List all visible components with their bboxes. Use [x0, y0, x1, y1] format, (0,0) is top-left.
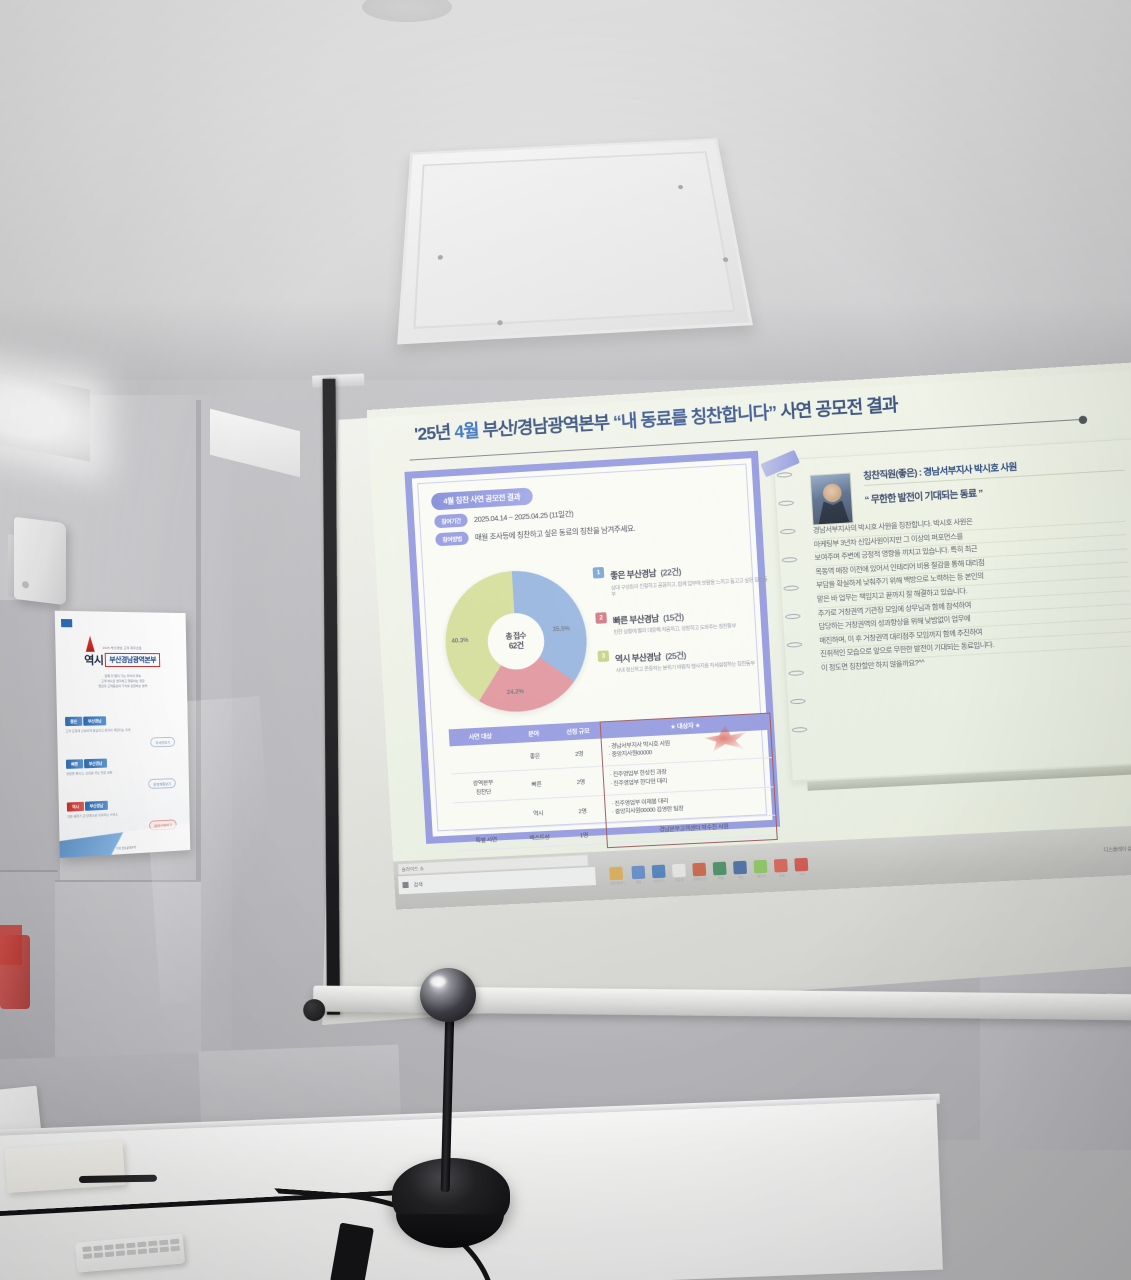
legend-count: (15건)	[663, 612, 684, 623]
taskbar-app[interactable]: PDF	[795, 858, 809, 877]
legend-index: 1	[593, 567, 605, 579]
powerpoint-icon[interactable]	[692, 863, 706, 877]
legend-item: 2 빠른 부산경남 (15건) 빈한 상황에 빨리 대응해 처음하고, 성장하고…	[595, 602, 771, 638]
donut-legend: 1 좋은 부산경남 (22건) 상대 구성원의 친절하고 꼼꼼하고, 함께 업무…	[592, 557, 774, 688]
screen-mount-cap	[312, 373, 364, 387]
taskbar-app[interactable]: 한글	[774, 859, 788, 878]
meeting-room-photo: 2025 부산경남 고객 최우선점 역시 부산경남광역본부 함께 더 멀리 가는…	[0, 0, 1131, 1280]
poster-title-box: 부산경남광역본부	[105, 653, 160, 667]
note-spiral-binding	[776, 468, 810, 772]
legend-index: 2	[595, 612, 607, 624]
legend-index: 3	[597, 650, 609, 662]
projection-screen: '25년 4월 부산/경남광역본부 “내 동료를 칭찬합니다” 사연 공모전 결…	[294, 371, 1131, 1045]
app-label: 파워포인트	[693, 877, 707, 882]
poster-section-desc: 불편을 줄이고, 신뢰를 쌓는 현장 실천	[66, 768, 181, 777]
td-size: 2명	[558, 766, 604, 797]
search-placeholder: 검색	[413, 881, 423, 888]
screen-roller-knob	[303, 999, 325, 1021]
legend-desc: 빈한 상황에 빨리 대응해 처음하고, 성장하고 도와주는 칭찬동부	[613, 623, 736, 636]
td-field: 베스트상	[517, 825, 562, 847]
hatch-inner-panel	[413, 151, 735, 329]
note-icon[interactable]	[672, 864, 686, 878]
poster-chip: 역시	[67, 802, 84, 812]
poster-header: 2025 부산경남 고객 최우선점 역시 부산경남광역본부	[66, 646, 178, 668]
taskbar-app[interactable]: 메모장	[672, 864, 686, 883]
results-card-inner: 4월 칭찬 사연 공모전 결과 참여기간 2025.04.14 ~ 2025.0…	[417, 464, 767, 832]
legend-item: 3 역시 부산경남 (25건) 사내 정신하고 존중하는 분위기 바람직 행사지…	[597, 640, 773, 676]
hatch-screw	[723, 257, 729, 262]
td-category: 특별 사연	[455, 828, 518, 851]
poster-chip: 빠른	[66, 759, 83, 769]
meta-chip-period: 참여기간	[434, 513, 468, 528]
slide-title-year: '25년	[414, 422, 451, 444]
app-label: 워드	[734, 875, 747, 880]
legend-desc: 상대 구성원의 친절하고 꼼꼼하고, 함께 업무에 보람을 느끼고 돕고고 싶은…	[611, 576, 769, 598]
legend-count: (22건)	[660, 567, 681, 578]
slide-title: '25년 4월 부산/경남광역본부 “내 동료를 칭찬합니다” 사연 공모전 결…	[413, 381, 1067, 446]
poster-section: 역시 부산경남 작은 배려가 큰 만족으로 이어지는 서비스 참여신청하기	[67, 797, 182, 819]
wall-poster: 2025 부산경남 고객 최우선점 역시 부산경남광역본부 함께 더 멀리 가는…	[55, 611, 191, 858]
wall-speaker	[14, 517, 66, 605]
app-label: 메신저	[755, 874, 769, 879]
donut-pct-red: 24.2%	[507, 689, 524, 696]
meta-text-period: 2025.04.14 ~ 2025.04.25 (11일간)	[474, 508, 574, 525]
app-label: PDF	[796, 872, 810, 877]
poster-chip: 부산경남	[84, 759, 108, 769]
poster-title-mark: 역시	[84, 652, 103, 668]
poster-lines: 함께 더 멀리 가는 우리의 약속 고객 하나로 생각하고 행동하는 현장 현장…	[72, 674, 172, 689]
taskbar-app[interactable]: 메신저	[754, 860, 768, 879]
td-category	[453, 800, 517, 831]
poster-chip: 부산경남	[83, 716, 107, 725]
poster-section-desc: 작은 배려가 큰 만족으로 이어지는 서비스	[67, 809, 182, 819]
slide-title-quote: “내 동료를 칭찬합니다”	[612, 402, 776, 432]
taskbar-app[interactable]: 브라우저	[651, 865, 665, 884]
browser-icon[interactable]	[651, 865, 665, 879]
taskbar-app[interactable]: 파워포인트	[692, 863, 707, 882]
poster-eyebrow: 2025 부산경남 고객 최우선점	[66, 646, 177, 651]
results-card: 4월 칭찬 사연 공모전 결과 참여기간 2025.04.14 ~ 2025.0…	[404, 451, 780, 844]
donut-pct-green: 40.3%	[451, 638, 468, 645]
spiral-ring	[785, 614, 801, 620]
ceiling-access-panel	[397, 138, 753, 344]
spiral-ring	[782, 557, 798, 563]
praise-note-panel: 칭찬직원(좋은) : 경남서부지사 박시호 사원 “ 무한한 발전이 기대되는 …	[773, 438, 1131, 781]
app-label: 메모장	[672, 878, 685, 883]
presentation-slide: '25년 4월 부산/경남광역본부 “내 동료를 칭찬합니다” 사연 공모전 결…	[367, 362, 1131, 861]
note-body: 경남서부지사의 박시호 사원을 칭찬합니다. 박시호 사원은 마케팅부 3년차 …	[813, 508, 1131, 676]
pdf-icon[interactable]	[795, 858, 809, 872]
tray-text: 디스플레이 설정	[1104, 845, 1131, 854]
td-field: 좋은	[512, 741, 558, 771]
poster-chip: 좋은	[65, 717, 82, 726]
search-icon	[402, 882, 408, 888]
spiral-ring	[778, 500, 794, 506]
spiral-ring	[787, 642, 803, 648]
app-label: 엑셀	[714, 876, 727, 881]
taskbar-app[interactable]: 메일	[631, 866, 645, 885]
poster-line: 현장과 고객중심의 가치를 실천하는 본부	[72, 684, 172, 690]
mail-icon[interactable]	[631, 866, 645, 880]
td-size: 2명	[559, 795, 605, 825]
spiral-ring	[792, 727, 808, 733]
legend-title: 좋은 부산경남	[610, 568, 656, 581]
taskbar-app[interactable]: 워드	[733, 861, 747, 880]
donut-pct-blue: 35.5%	[552, 626, 570, 633]
poster-chip: 부산경남	[85, 801, 109, 811]
meta-row-period: 참여기간 2025.04.14 ~ 2025.04.25 (11일간)	[434, 507, 574, 528]
projected-desktop: '25년 4월 부산/경남광역본부 “내 동료를 칭찬합니다” 사연 공모전 결…	[367, 362, 1131, 909]
meta-chip-method: 참여방법	[435, 531, 469, 546]
fire-extinguisher	[0, 935, 30, 1009]
results-badge: 4월 칭찬 사연 공모전 결과	[431, 487, 533, 510]
hatch-screw	[678, 185, 683, 189]
poster-red-triangle-icon	[85, 636, 94, 652]
spiral-ring	[788, 670, 804, 676]
td-field: 빠른	[513, 768, 559, 799]
td-field: 역시	[515, 797, 561, 827]
taskbar-app[interactable]: 파일 탐색기	[609, 867, 625, 886]
word-icon[interactable]	[733, 861, 747, 875]
poster-corner-tab	[61, 619, 72, 627]
taskbar-app-icons: 파일 탐색기 메일 브라우저 메모장 파워포인트 엑셀 워드 메신저 한글 PD…	[609, 858, 809, 886]
app-label: 브라우저	[652, 879, 665, 884]
app-label: 한글	[775, 873, 789, 878]
slide-title-org: 부산/경남광역본부	[482, 412, 610, 440]
donut-chart: 총 접수 62건 35.5% 24.2% 40.3%	[442, 567, 591, 715]
employee-photo	[810, 473, 854, 526]
note-heading-label: 칭찬직원(좋은)	[863, 468, 917, 481]
spiral-ring	[780, 529, 796, 535]
poster-button: 자세히보기	[151, 737, 176, 747]
spiral-ring	[777, 472, 793, 478]
spiral-ring	[790, 699, 806, 705]
td-category	[450, 743, 514, 774]
td-category: 광역본부 칭찬단	[451, 771, 515, 803]
td-size: 2명	[556, 739, 602, 769]
legend-desc: 사내 정신하고 존중하는 분위기 바람직 행사지를 자세설장하는 칭찬동부	[616, 661, 755, 675]
messenger-icon[interactable]	[754, 860, 768, 874]
poster-section: 빠른 부산경남 불편을 줄이고, 신뢰를 쌓는 현장 실천 운영계획보기	[66, 756, 181, 776]
taskbar-tray[interactable]: 디스플레이 설정 ‹	[1103, 841, 1131, 856]
legend-item: 1 좋은 부산경남 (22건) 상대 구성원의 친절하고 꼼꼼하고, 함께 업무…	[592, 557, 769, 600]
app-label: 파일 탐색기	[610, 881, 625, 886]
td-size: 1명	[561, 823, 607, 845]
slide-title-post: 사연 공모전 결과	[780, 394, 898, 421]
app-label: 메일	[632, 880, 645, 885]
excel-icon[interactable]	[713, 862, 727, 876]
slide-title-month: 4월	[454, 420, 479, 442]
poster-section-desc: 고객 요청에 신속하게 응답하고 끝까지 책임지는 자세	[65, 727, 180, 734]
note-bottom-shadow	[807, 764, 1131, 791]
taskbar-app[interactable]: 엑셀	[713, 862, 727, 881]
microphone-head[interactable]	[420, 968, 476, 1022]
file-explorer-icon[interactable]	[609, 867, 623, 881]
donut-center-value: 62건	[509, 641, 524, 652]
legend-title: 역시 부산경남	[615, 651, 661, 664]
legend-title: 빠른 부산경남	[613, 613, 659, 626]
note-heading-value: 경남서부지사 박시호 사원	[923, 462, 1017, 478]
poster-button: 운영계획보기	[148, 778, 175, 789]
legend-count: (25건)	[665, 650, 686, 661]
meta-text-method: 매월 조사등에 칭찬하고 싶은 동료의 칭찬을 남겨주세요.	[475, 523, 636, 543]
hancom-icon[interactable]	[774, 859, 788, 873]
poster-title-row: 역시 부산경남광역본부	[66, 652, 178, 668]
spiral-ring	[783, 585, 799, 591]
poster-section: 좋은 부산경남 고객 요청에 신속하게 응답하고 끝까지 책임지는 자세 자세히…	[65, 715, 180, 734]
notebook	[5, 1141, 126, 1193]
